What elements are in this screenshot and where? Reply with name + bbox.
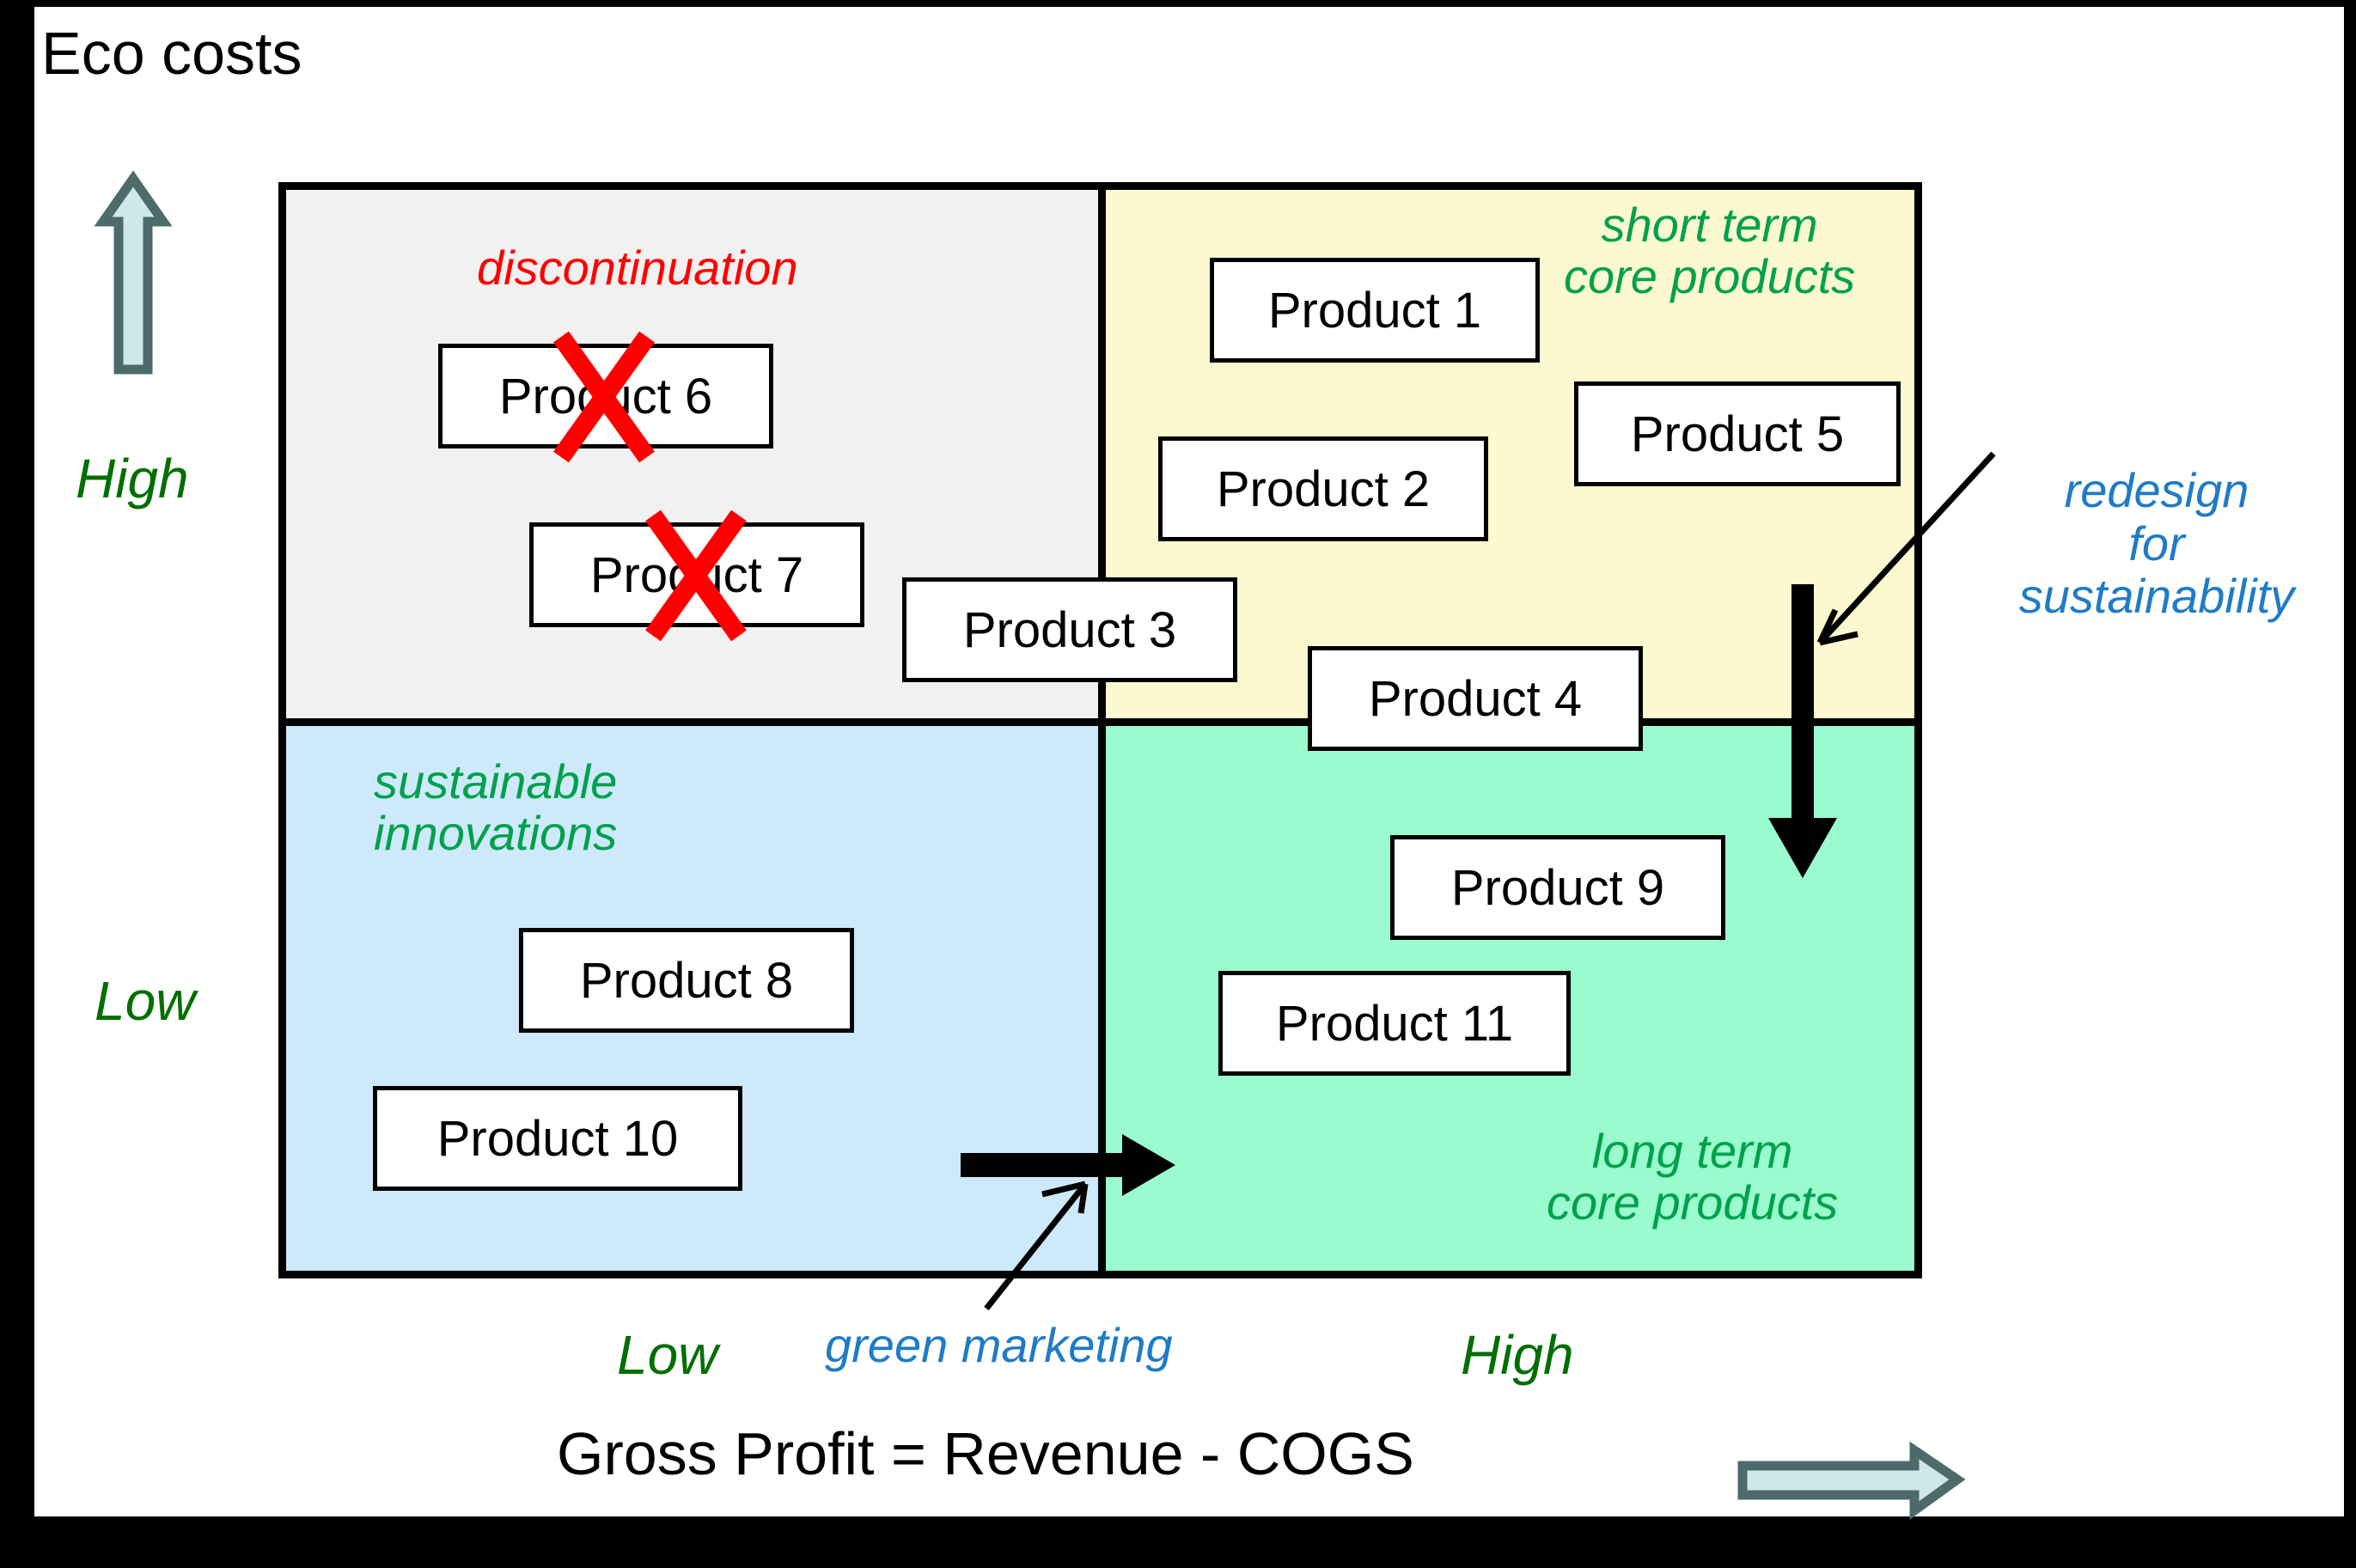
product-box-2[interactable]: Product 2 — [1158, 436, 1488, 541]
product-box-9[interactable]: Product 9 — [1390, 835, 1725, 940]
product-box-6[interactable]: Product 6 — [438, 344, 773, 448]
x-axis-arrow-icon — [1743, 1450, 1957, 1510]
y-axis-label-high: High — [76, 447, 189, 510]
product-box-3[interactable]: Product 3 — [902, 577, 1237, 682]
quadrant-note-long-term: long term core products — [1547, 1126, 1838, 1229]
y-axis-arrow-icon — [103, 179, 163, 369]
product-box-8[interactable]: Product 8 — [519, 928, 854, 1033]
page-border-bottom — [0, 1516, 2356, 1568]
product-box-1[interactable]: Product 1 — [1210, 258, 1540, 363]
page-border-right — [2344, 0, 2356, 1568]
product-box-11[interactable]: Product 11 — [1218, 971, 1571, 1076]
quadrant-divider-vertical — [1098, 190, 1106, 1271]
quadrant-note-sustainable: sustainable innovations — [374, 756, 617, 860]
diagram-canvas: Eco costs High Low Low High Gross Profit… — [0, 0, 2356, 1568]
y-axis-label-low: Low — [95, 969, 195, 1033]
product-box-10[interactable]: Product 10 — [373, 1086, 742, 1191]
x-axis-label-low: Low — [617, 1323, 717, 1387]
product-box-7[interactable]: Product 7 — [529, 522, 864, 627]
page-border-top — [0, 0, 2356, 7]
callout-green-marketing: green marketing — [825, 1319, 1173, 1372]
quadrant-note-short-term: short term core products — [1564, 199, 1855, 303]
product-box-5[interactable]: Product 5 — [1574, 381, 1901, 486]
quadrant-note-discontinuation: discontinuation — [477, 242, 798, 294]
product-box-4[interactable]: Product 4 — [1308, 646, 1643, 751]
page-border-left — [0, 0, 34, 1568]
x-axis-label-high: High — [1461, 1323, 1574, 1387]
x-axis-title: Gross Profit = Revenue - COGS — [557, 1419, 1414, 1488]
page-title: Eco costs — [41, 19, 302, 88]
callout-redesign-for-sustainability: redesign for sustainability — [1968, 464, 2346, 623]
